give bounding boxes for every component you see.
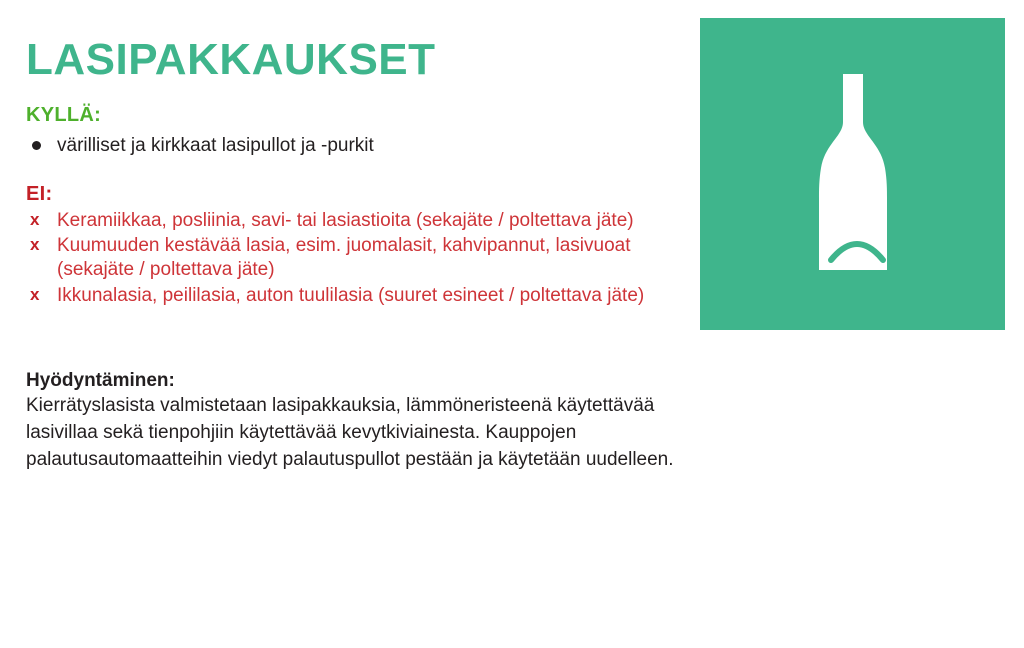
cross-mark-icon: x — [30, 234, 39, 257]
bullet-icon — [32, 141, 41, 150]
recovery-heading: Hyödyntäminen: — [26, 370, 690, 392]
list-item-label: Kuumuuden kestävää lasia, esim. juomalas… — [57, 235, 631, 280]
list-item-label: Ikkunalasia, peililasia, auton tuulilasi… — [57, 285, 644, 306]
list-item: x Kuumuuden kestävää lasia, esim. juomal… — [26, 234, 690, 283]
rejected-heading: EI: — [26, 183, 690, 206]
list-item-label: värilliset ja kirkkaat lasipullot ja -pu… — [57, 135, 374, 156]
rejected-list: x Keramiikkaa, posliinia, savi- tai lasi… — [26, 209, 690, 308]
rejected-materials-section: EI: x Keramiikkaa, posliinia, savi- tai … — [26, 183, 690, 308]
accepted-materials-section: KYLLÄ: värilliset ja kirkkaat lasipullot… — [26, 104, 690, 159]
glass-bottle-icon — [700, 18, 1005, 330]
page-title: LASIPAKKAUKSET — [26, 38, 690, 82]
accepted-list: värilliset ja kirkkaat lasipullot ja -pu… — [26, 133, 690, 159]
list-item: värilliset ja kirkkaat lasipullot ja -pu… — [26, 133, 690, 159]
list-item: x Ikkunalasia, peililasia, auton tuulila… — [26, 284, 690, 308]
accepted-heading: KYLLÄ: — [26, 104, 690, 127]
cross-mark-icon: x — [30, 209, 39, 232]
list-item-label: Keramiikkaa, posliinia, savi- tai lasias… — [57, 210, 634, 231]
list-item: x Keramiikkaa, posliinia, savi- tai lasi… — [26, 209, 690, 233]
glass-packaging-icon-panel — [700, 18, 1005, 330]
recovery-text: Kierrätyslasista valmistetaan lasipakkau… — [26, 393, 686, 474]
recovery-section: Hyödyntäminen: Kierrätyslasista valmiste… — [26, 370, 690, 474]
content-column: LASIPAKKAUKSET KYLLÄ: värilliset ja kirk… — [0, 0, 700, 648]
cross-mark-icon: x — [30, 284, 39, 307]
